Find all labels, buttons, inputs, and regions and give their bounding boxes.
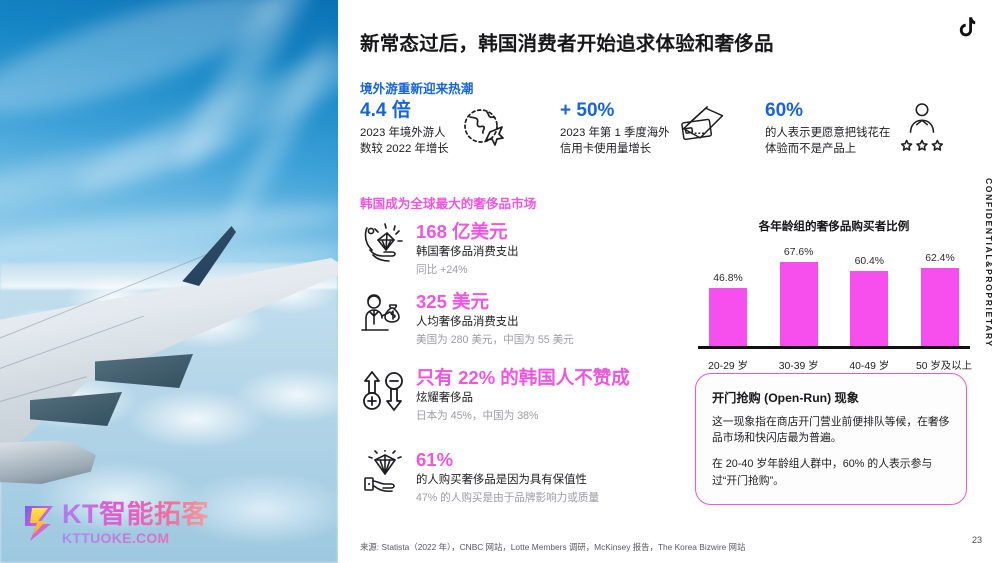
chart-bar [709, 288, 747, 347]
stat-desc: 2023 年境外游人数较 2022 年增长 [360, 125, 449, 158]
stat-desc: 的人购买奢侈品是因为具有保值性 [416, 473, 599, 489]
source-note: 来源: Statista（2022 年），CNBC 网站，Lotte Membe… [360, 541, 745, 553]
hand-diamond-icon [360, 222, 406, 268]
chart-bar [780, 262, 818, 347]
tiktok-icon [954, 16, 978, 42]
stat-note: 同比 +24% [416, 263, 519, 278]
chart-plot-area: 46.8%67.6%60.4%62.4% [698, 246, 970, 346]
chart-x-label: 50 岁及以上 [916, 357, 964, 372]
callout-title: 开门抢购 (Open-Run) 现象 [712, 388, 950, 406]
page-title: 新常态过后，韩国消费者开始追求体验和奢侈品 [360, 27, 774, 56]
stat-desc: 炫耀奢侈品 [416, 391, 630, 407]
globe-airplane-icon [457, 102, 511, 161]
chart-bar-value-label: 67.6% [784, 247, 813, 258]
stat-desc: 韩国奢侈品消费支出 [416, 245, 519, 261]
stat-desc: 人均奢侈品消费支出 [416, 315, 574, 331]
watermark: KT智能拓客 KTTUOKE.COM [22, 501, 209, 545]
up-down-arrows-icon [360, 368, 406, 414]
stat-desc: 2023 年第 1 季度海外信用卡使用量增长 [560, 125, 670, 158]
stat-desc: 的人表示更愿意把钱花在体验而不是产品上 [765, 125, 890, 158]
travel-stats-row: 4.4 倍 2023 年境外游人数较 2022 年增长 + 50% 2023 年… [360, 100, 988, 161]
person-stars-icon [898, 102, 946, 157]
stat-value: 168 亿美元 [416, 222, 519, 242]
wing-flap-fairing [0, 440, 96, 484]
stat-value: 61% [416, 450, 599, 470]
chart-x-label: 40-49 岁 [845, 357, 893, 372]
section-heading-luxury: 韩国成为全球最大的奢侈品市场 [360, 193, 536, 212]
callout-paragraph-1: 这一现象指在商店开门营业前便排队等候，在奢侈品市场和快闪店最为普遍。 [712, 414, 950, 446]
stat-value: 60% [765, 100, 890, 122]
airplane-wing [0, 258, 338, 488]
chart-title: 各年龄组的奢侈品购买者比例 [698, 218, 970, 234]
content-panel: 新常态过后，韩国消费者开始追求体验和奢侈品 CONFIDENTIAL&PROPR… [338, 0, 1000, 563]
slide: KT智能拓客 KTTUOKE.COM 新常态过后，韩国消费者开始追求体验和奢侈品… [0, 0, 1000, 563]
hero-photo: KT智能拓客 KTTUOKE.COM [0, 0, 338, 563]
stat-value: 325 美元 [416, 292, 574, 312]
chart-x-label: 30-39 岁 [775, 357, 823, 372]
open-run-callout: 开门抢购 (Open-Run) 现象 这一现象指在商店开门营业前便排队等候，在奢… [695, 373, 967, 505]
section-heading-travel: 境外游重新迎来热潮 [360, 78, 473, 97]
stat-value: + 50% [560, 100, 670, 122]
chart-bar-value-label: 62.4% [925, 253, 954, 264]
chart-bar-value-label: 60.4% [855, 256, 884, 267]
watermark-domain: KTTUOKE.COM [62, 531, 209, 545]
confidential-marking: CONFIDENTIAL&PROPRIETARY [984, 178, 994, 348]
stat-card-experience-spend: 60% 的人表示更愿意把钱花在体验而不是产品上 [765, 100, 980, 161]
chart-x-axis [698, 346, 970, 349]
credit-cards-icon [678, 102, 728, 151]
chart-x-tick-labels: 20-29 岁30-39 岁40-49 岁50 岁及以上 [698, 357, 970, 372]
chart-bar [850, 271, 888, 347]
chart-bar-group: 60.4% [845, 246, 893, 346]
chart-bar-group: 62.4% [916, 246, 964, 346]
stat-value: 4.4 倍 [360, 100, 449, 122]
stat-card-disapprove: 只有 22% 的韩国人不赞成 炫耀奢侈品 日本为 45%，中国为 38% [360, 368, 690, 424]
stat-card-credit-card: + 50% 2023 年第 1 季度海外信用卡使用量增长 [560, 100, 765, 161]
stat-card-luxury-spend: 168 亿美元 韩国奢侈品消费支出 同比 +24% [360, 222, 690, 278]
chart-bar-group: 46.8% [704, 246, 752, 346]
stat-note: 47% 的人购买是由于品牌影响力或质量 [416, 491, 599, 506]
callout-paragraph-2: 在 20-40 岁年龄组人群中，60% 的人表示参与过“开门抢购”。 [712, 456, 950, 488]
chart-bar [921, 268, 959, 346]
stat-card-resale-value: 61% 的人购买奢侈品是因为具有保值性 47% 的人购买是由于品牌影响力或质量 [360, 450, 690, 506]
watermark-text: KT智能拓客 KTTUOKE.COM [62, 501, 209, 545]
stat-note: 美国为 280 美元，中国为 55 美元 [416, 333, 574, 348]
person-money-bag-icon [360, 292, 406, 338]
lightning-bolt-icon [22, 504, 56, 542]
hand-diamond-outline-icon [360, 450, 406, 496]
stat-note: 日本为 45%，中国为 38% [416, 409, 630, 424]
watermark-brand: KT智能拓客 [62, 501, 209, 528]
page-number: 23 [972, 535, 982, 545]
chart-bar-value-label: 46.8% [713, 273, 742, 284]
stat-card-travel-growth: 4.4 倍 2023 年境外游人数较 2022 年增长 [360, 100, 560, 161]
chart-bar-group: 67.6% [775, 246, 823, 346]
stat-card-per-capita: 325 美元 人均奢侈品消费支出 美国为 280 美元，中国为 55 美元 [360, 292, 690, 348]
chart-x-label: 20-29 岁 [704, 357, 752, 372]
age-group-bar-chart: 各年龄组的奢侈品购买者比例 46.8%67.6%60.4%62.4% 20-29… [698, 218, 970, 372]
stat-value: 只有 22% 的韩国人不赞成 [416, 368, 630, 388]
